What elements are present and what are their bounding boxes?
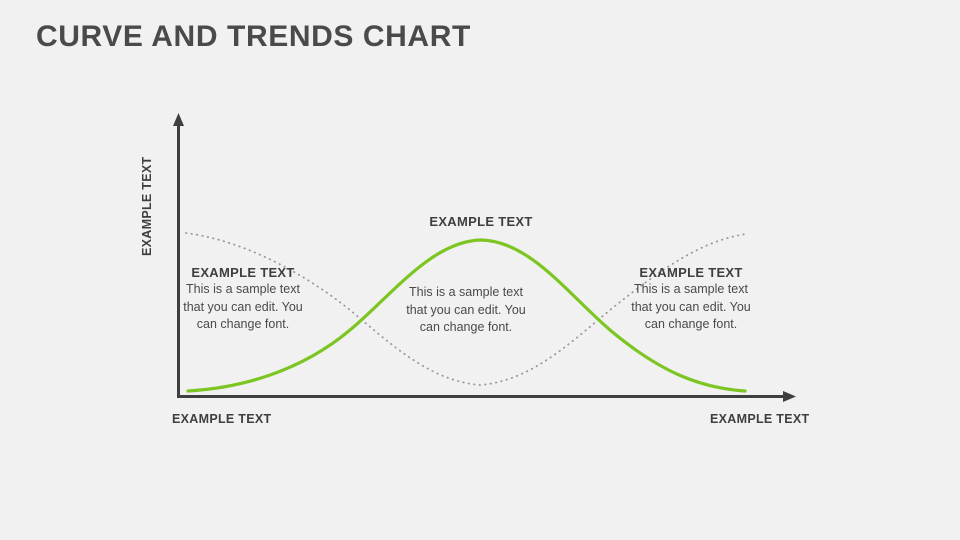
x-axis-label-right: EXAMPLE TEXT <box>710 412 809 426</box>
y-axis-label: EXAMPLE TEXT <box>140 157 154 256</box>
slide-canvas: CURVE AND TRENDS CHART EXAMPLE TEXT EXAM… <box>0 0 960 540</box>
callout-center-heading-wrap: EXAMPLE TEXT <box>400 213 562 230</box>
callout-left: EXAMPLE TEXT This is a sample text that … <box>182 264 304 334</box>
callout-center-heading: EXAMPLE TEXT <box>400 213 562 230</box>
callout-left-body: This is a sample text that you can edit.… <box>182 281 304 334</box>
callout-right: EXAMPLE TEXT This is a sample text that … <box>630 264 752 334</box>
callout-right-body: This is a sample text that you can edit.… <box>630 281 752 334</box>
callout-right-heading: EXAMPLE TEXT <box>630 264 752 281</box>
y-axis <box>173 113 184 397</box>
callout-center-body-wrap: This is a sample text that you can edit.… <box>403 284 529 337</box>
chart-graphics <box>0 0 960 540</box>
x-axis <box>177 391 796 402</box>
x-axis-label-left: EXAMPLE TEXT <box>172 412 271 426</box>
callout-center-body: This is a sample text that you can edit.… <box>403 284 529 337</box>
chart-area: EXAMPLE TEXT EXAMPLE TEXT EXAMPLE TEXT E… <box>0 0 960 540</box>
callout-left-heading: EXAMPLE TEXT <box>182 264 304 281</box>
